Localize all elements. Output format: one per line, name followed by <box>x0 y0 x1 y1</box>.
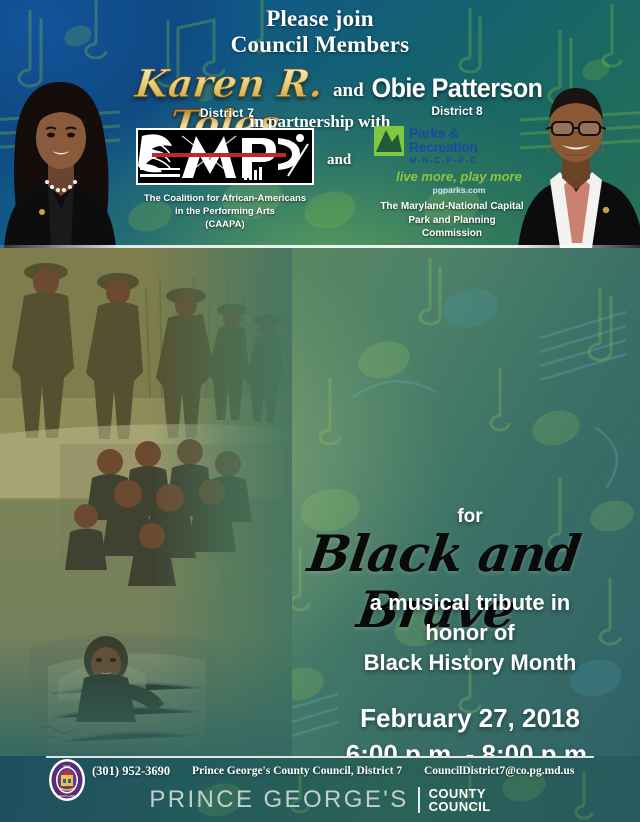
footer-divider <box>46 756 594 758</box>
invitation-line-1: Please join <box>0 6 640 32</box>
flyer-header: Please join Council Members <box>0 0 640 248</box>
wordmark-divider <box>418 787 420 813</box>
footer-email: CouncilDistrict7@co.pg.md.us <box>424 765 574 777</box>
mncppc-caption-line-2: Park and Planning <box>352 214 552 228</box>
parks-brand-line-1: Parks & <box>409 126 478 140</box>
subtitle-line-1: a musical tribute in <box>300 588 640 618</box>
invitation-line-2: Council Members <box>0 32 640 58</box>
historical-photo-collage <box>0 248 292 756</box>
parks-tagline: live more, play more <box>352 169 552 184</box>
partners-conjunction: and <box>327 152 351 169</box>
wordmark-council: COUNCIL <box>429 800 491 814</box>
footer-phone: (301) 952-3690 <box>92 764 170 779</box>
caapa-logo <box>136 128 314 185</box>
flyer-body: for Black and Brave a musical tribute in… <box>0 248 640 756</box>
mncppc-caption-line-1: The Maryland-National Capital <box>352 200 552 214</box>
event-subtitle: a musical tribute in honor of Black Hist… <box>300 588 640 678</box>
footer-council-name: Prince George's County Council, District… <box>192 765 402 777</box>
council-member-name-right: Obie Patterson <box>369 74 546 103</box>
collage-bottom-fade <box>0 636 292 756</box>
parks-leaf-icon <box>374 126 404 156</box>
subtitle-line-2: honor of <box>300 618 640 648</box>
parks-brand-line-2: Recreation <box>409 140 478 155</box>
caapa-caption: The Coalition for African-Americans in t… <box>136 192 314 231</box>
caapa-caption-line-1: The Coalition for African-Americans <box>136 192 314 205</box>
event-time: 6:00 p.m. - 8:00 p.m. <box>300 736 640 756</box>
mncppc-caption: The Maryland-National Capital Park and P… <box>352 200 552 241</box>
wordmark-county-council: COUNTY COUNCIL <box>429 787 491 814</box>
invitation-heading: Please join Council Members <box>0 6 640 58</box>
parks-recreation-logo: Parks & Recreation M-N-C-P-P-C <box>352 126 552 166</box>
event-date: February 27, 2018 <box>300 700 640 736</box>
subtitle-line-3: Black History Month <box>300 648 640 678</box>
caapa-caption-line-2: in the Performing Arts <box>136 205 314 218</box>
county-council-wordmark: PRINCE GEORGE'S COUNTY COUNCIL <box>0 786 640 814</box>
event-flyer: Please join Council Members <box>0 0 640 822</box>
partner-mncppc: Parks & Recreation M-N-C-P-P-C live more… <box>352 126 552 241</box>
parks-url: pgparks.com <box>352 185 552 195</box>
mncppc-caption-line-3: Commission <box>352 227 552 241</box>
partner-caapa: The Coalition for African-Americans in t… <box>136 128 314 231</box>
members-conjunction: and <box>333 80 364 102</box>
wordmark-prince-georges: PRINCE GEORGE'S <box>149 786 408 814</box>
wordmark-county: COUNTY <box>429 787 491 801</box>
caapa-caption-line-3: (CAAPA) <box>136 218 314 231</box>
parks-brand-line-3: M-N-C-P-P-C <box>409 155 478 166</box>
svg-text:SEAL: SEAL <box>63 764 71 768</box>
event-datetime: February 27, 2018 6:00 p.m. - 8:00 p.m. <box>300 700 640 756</box>
